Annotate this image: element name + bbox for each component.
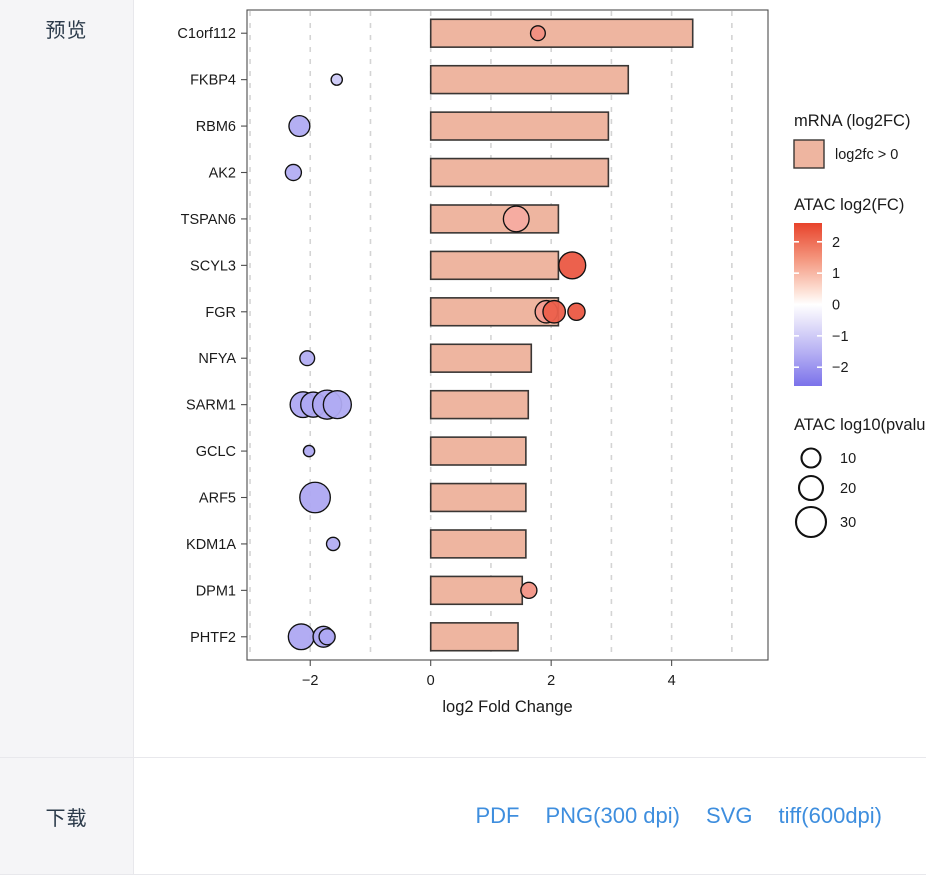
preview-row-label-cell: 预览 [0, 0, 134, 757]
legend-title-atac-log2fc: ATAC log2(FC) [794, 196, 904, 214]
download-pdf[interactable]: PDF [475, 803, 519, 829]
preview-label: 预览 [46, 14, 88, 43]
bar [431, 484, 526, 512]
data-point [323, 391, 351, 419]
panel-border [247, 10, 768, 660]
colorbar-tick-label: −2 [832, 360, 849, 376]
data-point [327, 537, 340, 550]
bar [431, 344, 532, 372]
download-row: 下载 PDFPNG(300 dpi)SVGtiff(600dpi) [0, 758, 926, 875]
legend-size-circle [799, 476, 823, 500]
data-point [303, 445, 314, 456]
legend-label-mrna: log2fc > 0 [835, 147, 898, 163]
settings-table: 预览 C1orf112FKBP4RBM6AK2TSPAN6SCYL3FGRNFY… [0, 0, 926, 875]
y-axis-tick-label: SCYL3 [190, 258, 236, 274]
colorbar-tick-label: 0 [832, 298, 840, 314]
data-point [331, 74, 342, 85]
data-point [300, 351, 315, 366]
data-point [285, 164, 301, 180]
download-png[interactable]: PNG(300 dpi) [545, 803, 680, 829]
data-point [319, 629, 335, 645]
y-axis-tick-label: NFYA [198, 351, 236, 367]
y-axis-tick-label: FGR [205, 305, 236, 321]
y-axis-tick-label: ARF5 [199, 491, 236, 507]
y-axis: C1orf112FKBP4RBM6AK2TSPAN6SCYL3FGRNFYASA… [177, 26, 247, 646]
download-row-label-cell: 下载 [0, 758, 134, 874]
data-point [543, 301, 565, 323]
legend-size-label: 10 [840, 451, 856, 467]
y-axis-tick-label: PHTF2 [190, 630, 236, 646]
data-point [503, 206, 529, 232]
bubble-bar-chart: C1orf112FKBP4RBM6AK2TSPAN6SCYL3FGRNFYASA… [134, 0, 926, 757]
y-axis-tick-label: RBM6 [196, 119, 236, 135]
bar [431, 251, 559, 279]
legend-size-circle [802, 449, 821, 468]
colorbar-tick-label: 2 [832, 235, 840, 251]
data-point [559, 252, 586, 279]
plot-panel [247, 10, 768, 660]
legend-size-circle [796, 507, 826, 537]
y-axis-tick-label: SARM1 [186, 398, 236, 414]
colorbar-tick-label: −1 [832, 329, 849, 345]
bar [431, 159, 609, 187]
legend-swatch-mrna [794, 140, 824, 168]
bar [431, 530, 526, 558]
download-tiff[interactable]: tiff(600dpi) [778, 803, 882, 829]
y-axis-tick-label: AK2 [209, 166, 236, 182]
preview-page: 预览 C1orf112FKBP4RBM6AK2TSPAN6SCYL3FGRNFY… [0, 0, 926, 879]
bar [431, 66, 629, 94]
preview-row-body: C1orf112FKBP4RBM6AK2TSPAN6SCYL3FGRNFYASA… [134, 0, 926, 757]
y-axis-tick-label: TSPAN6 [181, 212, 236, 228]
legend-size-label: 20 [840, 481, 856, 497]
y-axis-tick-label: GCLC [196, 444, 236, 460]
legend-area: mRNA (log2FC)log2fc > 0ATAC log2(FC)210−… [794, 112, 926, 537]
bar [431, 112, 609, 140]
x-axis-tick-label: −2 [302, 673, 319, 689]
legend-size-label: 30 [840, 515, 856, 531]
bar [431, 437, 526, 465]
download-links-container: PDFPNG(300 dpi)SVGtiff(600dpi) [134, 758, 926, 874]
x-axis-tick-label: 0 [427, 673, 435, 689]
data-point [300, 482, 331, 513]
bar [431, 205, 559, 233]
x-axis: −2024log2 Fold Change [302, 660, 676, 716]
x-axis-tick-label: 2 [547, 673, 555, 689]
legend-title-atac-pvalue: ATAC log10(pvalue) [794, 416, 926, 434]
data-point [521, 582, 537, 598]
bar [431, 391, 529, 419]
x-axis-title: log2 Fold Change [442, 698, 572, 716]
y-axis-tick-label: KDM1A [186, 537, 236, 553]
bar [431, 576, 523, 604]
data-point [288, 624, 314, 650]
y-axis-tick-label: FKBP4 [190, 73, 236, 89]
y-axis-tick-label: C1orf112 [177, 26, 236, 42]
legend-title-mrna: mRNA (log2FC) [794, 112, 910, 130]
bar [431, 19, 693, 47]
preview-row: 预览 C1orf112FKBP4RBM6AK2TSPAN6SCYL3FGRNFY… [0, 0, 926, 758]
data-point [531, 26, 546, 41]
x-axis-tick-label: 4 [668, 673, 676, 689]
data-point [568, 303, 585, 320]
download-label: 下载 [46, 802, 88, 831]
colorbar-tick-label: 1 [832, 266, 840, 282]
y-axis-tick-label: DPM1 [196, 583, 236, 599]
bar [431, 623, 518, 651]
download-svg[interactable]: SVG [706, 803, 752, 829]
data-point [289, 116, 310, 137]
